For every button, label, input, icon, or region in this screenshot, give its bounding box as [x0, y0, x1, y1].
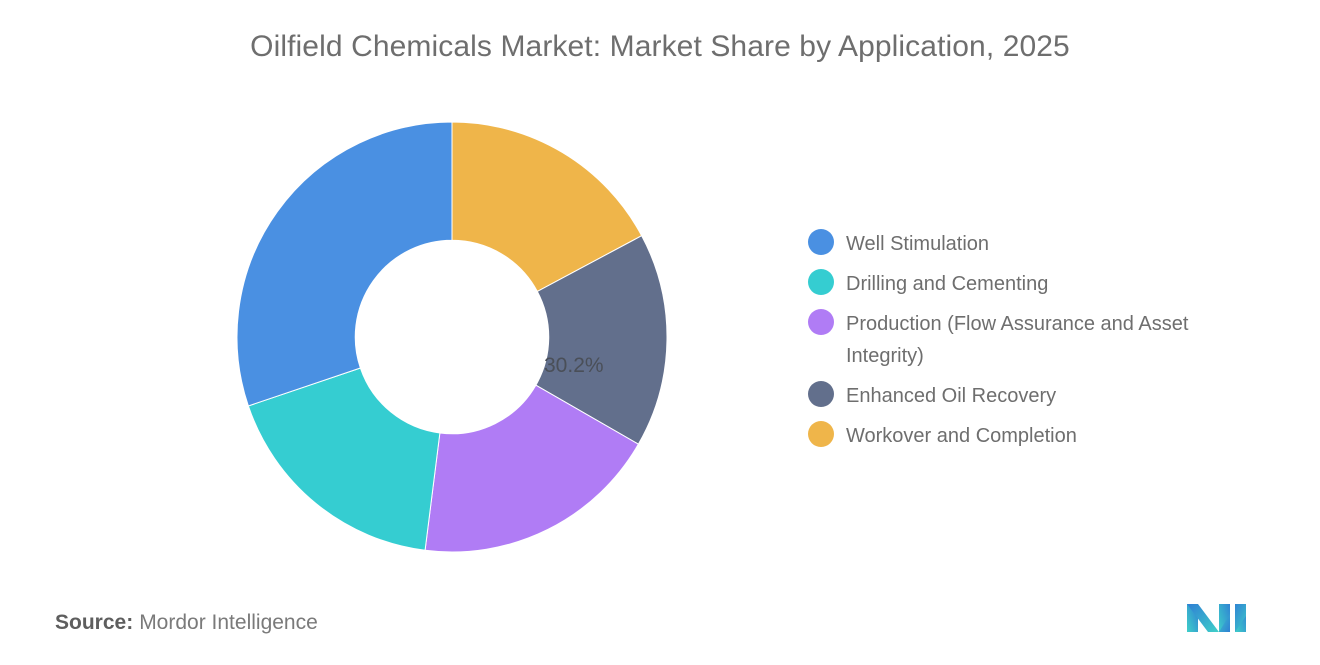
legend-swatch-icon [808, 421, 834, 447]
legend-item-label: Well Stimulation [846, 228, 989, 260]
donut-slice[interactable] [237, 122, 452, 406]
page-title: Oilfield Chemicals Market: Market Share … [0, 30, 1320, 64]
legend-swatch-icon [808, 229, 834, 255]
legend-item-drilling-and-cementing[interactable]: Drilling and Cementing [808, 268, 1278, 300]
source-value: Mordor Intelligence [139, 611, 318, 634]
mordor-intelligence-logo-icon [1185, 598, 1253, 638]
legend-item-label: Drilling and Cementing [846, 268, 1048, 300]
legend-item-workover-and-completion[interactable]: Workover and Completion [808, 420, 1278, 452]
chart-page: Oilfield Chemicals Market: Market Share … [0, 0, 1320, 665]
legend-swatch-icon [808, 269, 834, 295]
legend-swatch-icon [808, 309, 834, 335]
source-note: Source:Mordor Intelligence [55, 611, 318, 635]
donut-chart-svg [237, 122, 667, 552]
legend-item-production[interactable]: Production (Flow Assurance and Asset Int… [808, 308, 1278, 372]
slice-data-label-well-stimulation: 30.2% [544, 354, 604, 378]
legend-item-label: Workover and Completion [846, 420, 1077, 452]
legend-swatch-icon [808, 381, 834, 407]
donut-slices [237, 122, 667, 552]
legend-item-label: Production (Flow Assurance and Asset Int… [846, 308, 1246, 372]
legend-item-label: Enhanced Oil Recovery [846, 380, 1056, 412]
legend-item-well-stimulation[interactable]: Well Stimulation [808, 228, 1278, 260]
chart-legend: Well Stimulation Drilling and Cementing … [808, 228, 1278, 460]
legend-item-enhanced-oil-recovery[interactable]: Enhanced Oil Recovery [808, 380, 1278, 412]
source-label: Source: [55, 611, 133, 634]
donut-chart: 30.2% [237, 122, 667, 552]
logo-svg [1185, 598, 1253, 638]
